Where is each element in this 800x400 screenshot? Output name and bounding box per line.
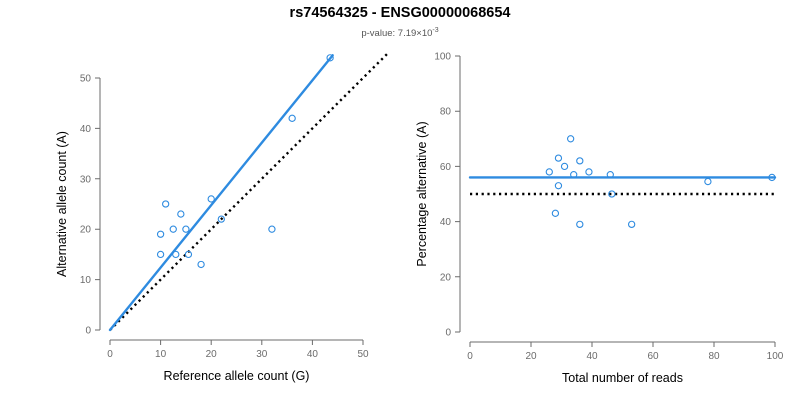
x-tick-label: 0 xyxy=(467,351,473,362)
y-axis-line xyxy=(95,78,100,330)
figure-root: rs74564325 - ENSG00000068654 p-value: 7.… xyxy=(0,0,800,400)
scatter-plot-right: 020406080100Total number of reads0204060… xyxy=(400,0,800,400)
x-tick-label: 0 xyxy=(107,349,113,360)
data-point xyxy=(198,261,204,267)
x-axis: 020406080100Total number of reads xyxy=(467,342,784,385)
y-tick-label: 40 xyxy=(440,217,452,228)
data-point xyxy=(546,169,552,175)
panel-allele-counts: 01020304050Reference allele count (G)010… xyxy=(0,0,400,400)
y-tick-label: 60 xyxy=(440,162,452,173)
y-axis-line xyxy=(455,56,460,332)
data-point xyxy=(629,221,635,227)
y-tick-label: 0 xyxy=(85,326,91,337)
y-axis: 020406080100Percentage alternative (A) xyxy=(415,52,460,339)
data-point xyxy=(173,251,179,257)
data-point xyxy=(586,169,592,175)
data-points xyxy=(546,136,775,228)
plot-lines xyxy=(110,53,388,330)
data-point xyxy=(269,226,275,232)
y-tick-label: 0 xyxy=(445,328,451,339)
data-point xyxy=(568,136,574,142)
x-tick-label: 60 xyxy=(647,351,659,362)
y-tick-label: 40 xyxy=(80,124,92,135)
x-axis: 01020304050Reference allele count (G) xyxy=(107,340,369,383)
y-tick-label: 20 xyxy=(440,272,452,283)
data-point xyxy=(183,226,189,232)
y-tick-label: 100 xyxy=(434,52,451,63)
x-axis-line xyxy=(110,340,363,345)
x-tick-label: 100 xyxy=(767,351,784,362)
y-tick-label: 10 xyxy=(80,275,92,286)
fit-line xyxy=(110,55,333,330)
y-axis: 01020304050Alternative allele count (A) xyxy=(55,74,100,337)
x-tick-label: 40 xyxy=(586,351,598,362)
data-point xyxy=(289,115,295,121)
x-axis-title: Reference allele count (G) xyxy=(164,369,310,383)
y-tick-label: 30 xyxy=(80,174,92,185)
panel-percentage-alternative: 020406080100Total number of reads0204060… xyxy=(400,0,800,400)
x-tick-label: 50 xyxy=(357,349,369,360)
data-point xyxy=(555,183,561,189)
plot-lines xyxy=(470,177,775,194)
reference-line xyxy=(110,53,388,330)
data-point xyxy=(552,210,558,216)
y-tick-label: 20 xyxy=(80,225,92,236)
x-tick-label: 10 xyxy=(155,349,167,360)
data-point xyxy=(561,163,567,169)
x-axis-line xyxy=(470,342,775,347)
data-point xyxy=(208,196,214,202)
y-tick-label: 80 xyxy=(440,107,452,118)
data-point xyxy=(170,226,176,232)
x-axis-title: Total number of reads xyxy=(562,371,683,385)
x-tick-label: 40 xyxy=(307,349,319,360)
y-axis-title: Alternative allele count (A) xyxy=(55,131,69,277)
scatter-plot-left: 01020304050Reference allele count (G)010… xyxy=(0,0,400,400)
data-point xyxy=(577,158,583,164)
data-point xyxy=(178,211,184,217)
data-point xyxy=(158,231,164,237)
data-point xyxy=(158,251,164,257)
y-tick-label: 50 xyxy=(80,74,92,85)
x-tick-label: 80 xyxy=(708,351,720,362)
x-tick-label: 20 xyxy=(206,349,218,360)
data-point xyxy=(555,155,561,161)
x-tick-label: 30 xyxy=(256,349,268,360)
data-point xyxy=(163,201,169,207)
x-tick-label: 20 xyxy=(525,351,537,362)
data-point xyxy=(577,221,583,227)
data-point xyxy=(705,178,711,184)
y-axis-title: Percentage alternative (A) xyxy=(415,121,429,266)
